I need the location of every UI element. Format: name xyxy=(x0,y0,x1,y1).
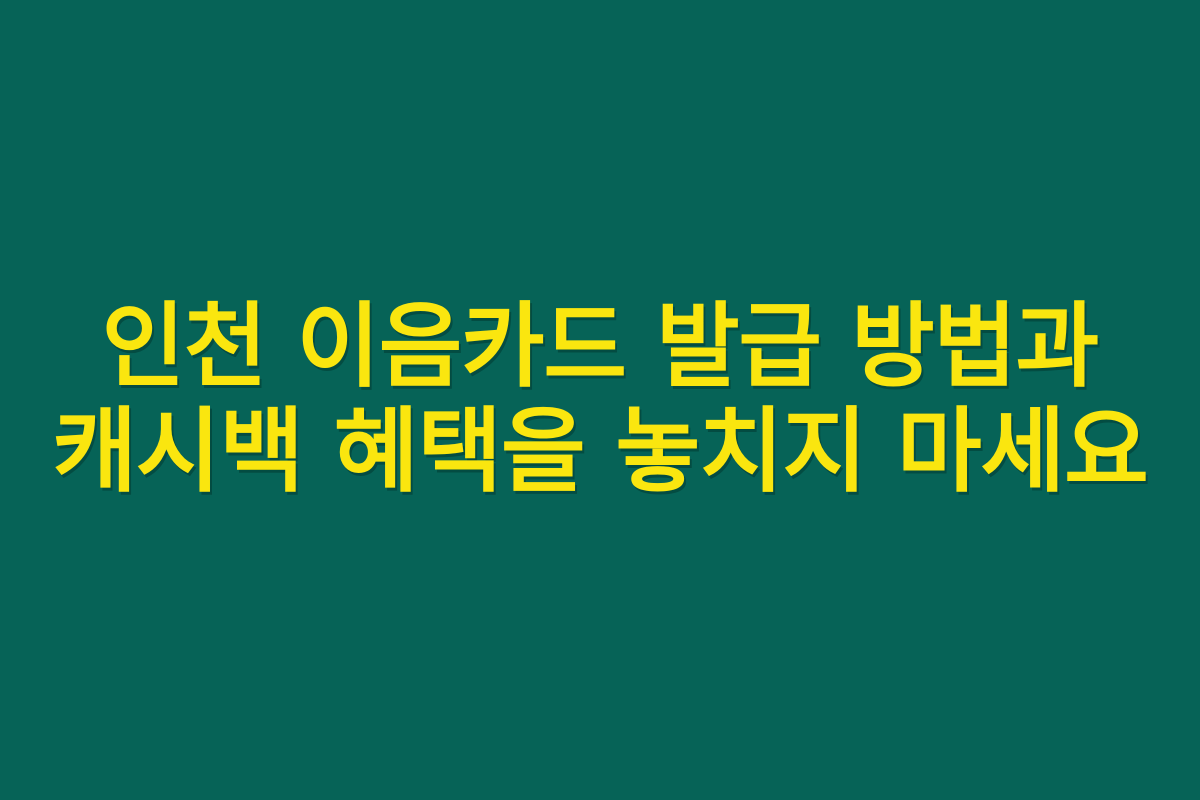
headline-line-1: 인천 이음카드 발급 방법과 xyxy=(102,295,1099,400)
thumbnail-banner: 인천 이음카드 발급 방법과 캐시백 혜택을 놓치지 마세요 xyxy=(0,0,1200,800)
headline-block: 인천 이음카드 발급 방법과 캐시백 혜택을 놓치지 마세요 xyxy=(0,295,1200,505)
headline-line-2: 캐시백 혜택을 놓치지 마세요 xyxy=(52,400,1147,505)
